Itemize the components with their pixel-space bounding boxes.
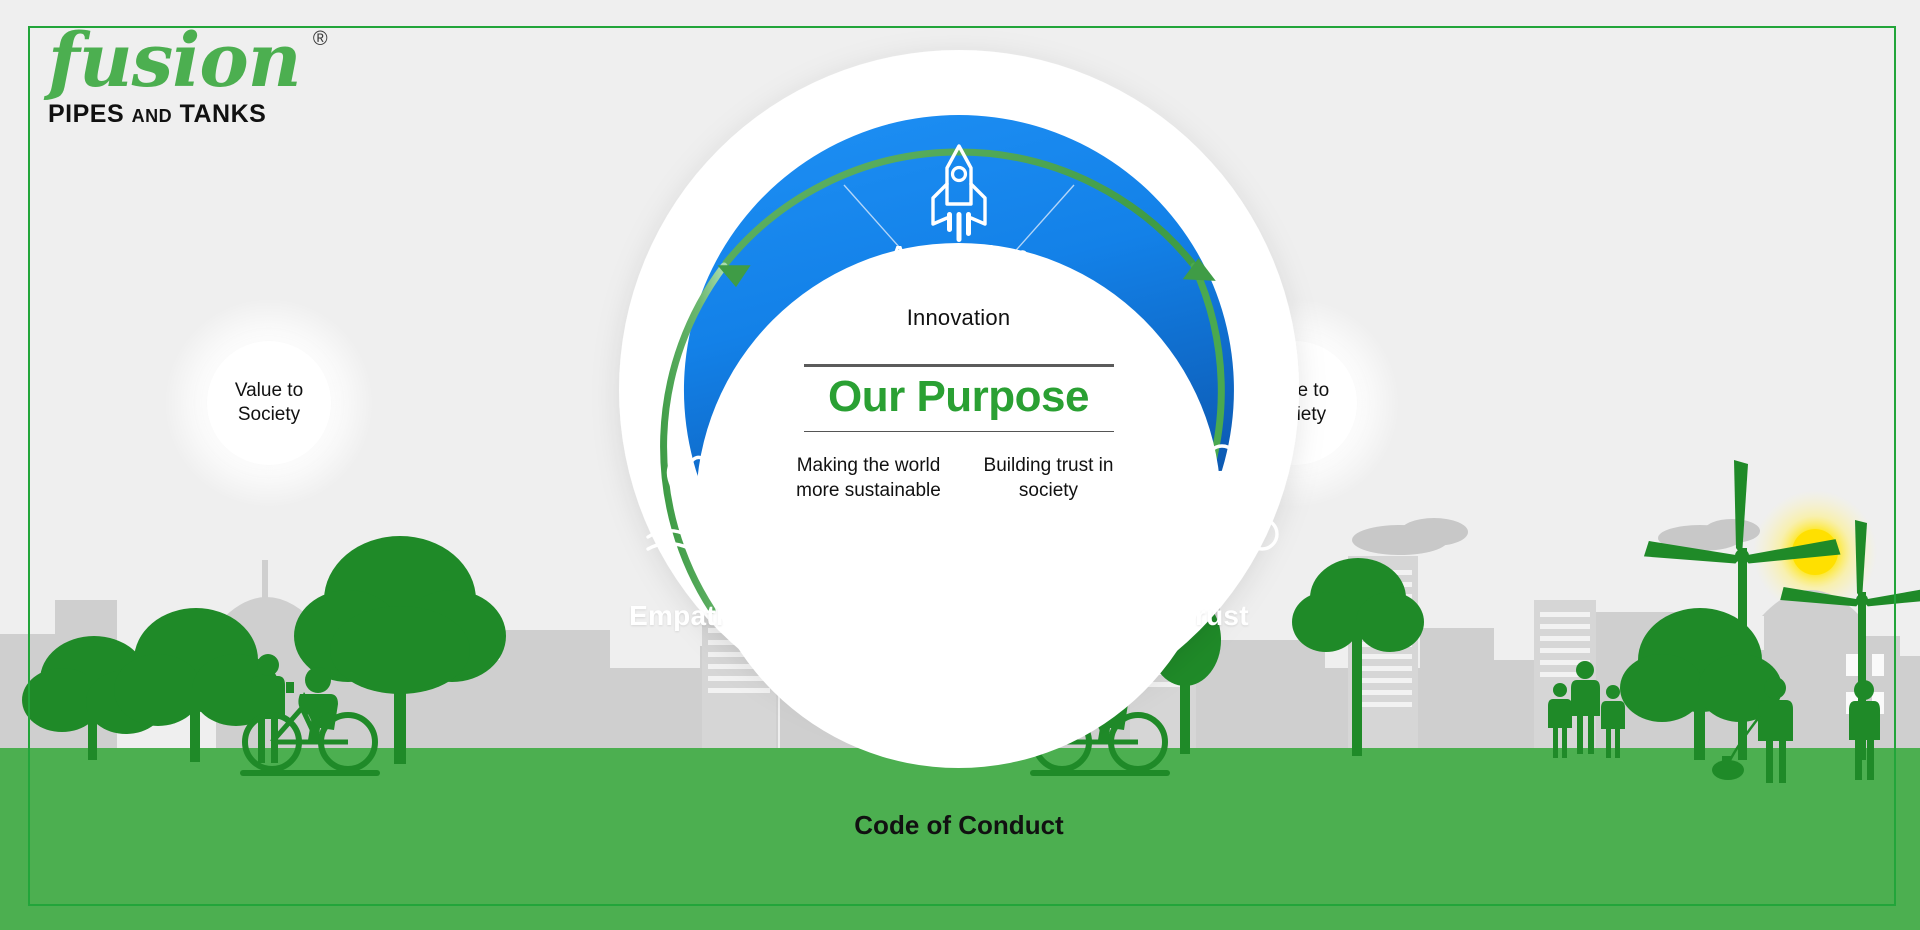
core-statement-trust: Building trust in society <box>974 454 1124 503</box>
bubble-left-line1: Value to <box>235 380 303 401</box>
bubble-inner: Value to Society <box>207 341 331 465</box>
value-to-society-bubble-left: Value to Society <box>166 300 372 506</box>
bubble-left-line2: Society <box>238 404 300 425</box>
tagline-and: AND <box>132 106 173 126</box>
core-statement-sustainable: Making the world more sustainable <box>794 454 944 503</box>
core-innovation-label: Innovation <box>907 305 1011 331</box>
tagline-tanks: TANKS <box>180 100 267 128</box>
our-purpose-title: Our Purpose <box>804 373 1114 421</box>
brand-wordmark: fusion ® <box>48 26 301 96</box>
purpose-values-diagram: Aspiration Empathy Trust Our Values Code… <box>544 10 1374 890</box>
brand-name: fusion <box>48 18 301 104</box>
core-content: Innovation Our Purpose Making the world … <box>696 243 1221 768</box>
code-of-conduct-label: Code of Conduct <box>544 810 1374 841</box>
brand-tagline: PIPES AND TANKS <box>48 100 301 129</box>
our-purpose-box: Our Purpose <box>804 364 1114 432</box>
core-statements: Making the world more sustainable Buildi… <box>794 454 1124 503</box>
brand-logo: fusion ® PIPES AND TANKS <box>48 26 301 129</box>
tagline-pipes: PIPES <box>48 100 124 128</box>
infographic-canvas: fusion ® PIPES AND TANKS Value to Societ… <box>0 0 1920 930</box>
registered-trademark-icon: ® <box>313 30 327 49</box>
